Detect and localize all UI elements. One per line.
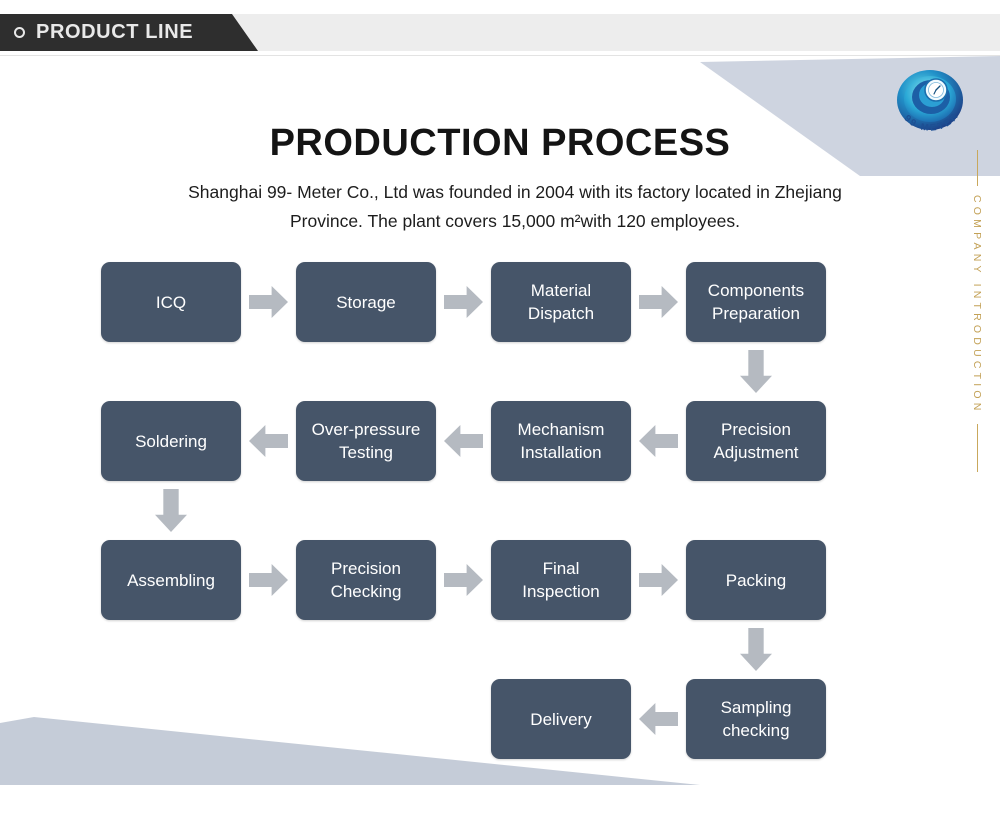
arrow-final-inspection-to-packing: [639, 564, 678, 596]
side-label-text: COMPANY INTRODUCTION: [971, 195, 983, 415]
arrow-precision-adjustment-to-mechanism: [639, 425, 678, 457]
process-box-label: Soldering: [135, 430, 207, 453]
arrow-mechanism-to-over-pressure: [444, 425, 483, 457]
ring-bullet-icon: [14, 27, 25, 38]
process-box-material-dispatch[interactable]: MaterialDispatch: [491, 262, 631, 342]
process-box-label: Packing: [726, 569, 786, 592]
process-box-components-preparation[interactable]: ComponentsPreparation: [686, 262, 826, 342]
process-box-mechanism-installation[interactable]: MechanismInstallation: [491, 401, 631, 481]
process-box-precision-checking[interactable]: PrecisionChecking: [296, 540, 436, 620]
arrow-precision-checking-to-final-inspection: [444, 564, 483, 596]
process-box-label: FinalInspection: [522, 557, 600, 603]
header-underline: [0, 55, 1000, 56]
process-box-label: Storage: [336, 291, 396, 314]
arrow-soldering-to-assembling: [155, 489, 187, 532]
process-box-label: Over-pressureTesting: [312, 418, 421, 464]
process-box-packing[interactable]: Packing: [686, 540, 826, 620]
process-box-final-inspection[interactable]: FinalInspection: [491, 540, 631, 620]
process-box-over-pressure-testing[interactable]: Over-pressureTesting: [296, 401, 436, 481]
process-box-label: MechanismInstallation: [518, 418, 605, 464]
side-vertical-label: COMPANY INTRODUCTION: [962, 150, 992, 470]
arrow-storage-to-material-dispatch: [444, 286, 483, 318]
header-tab[interactable]: PRODUCT LINE: [0, 14, 258, 51]
process-box-label: ICQ: [156, 291, 186, 314]
intro-paragraph: Shanghai 99- Meter Co., Ltd was founded …: [150, 178, 880, 236]
process-box-assembling[interactable]: Assembling: [101, 540, 241, 620]
process-box-label: ComponentsPreparation: [708, 279, 804, 325]
process-box-label: Assembling: [127, 569, 215, 592]
process-box-icq[interactable]: ICQ: [101, 262, 241, 342]
arrow-components-to-precision-adjustment: [740, 350, 772, 393]
process-box-label: Samplingchecking: [721, 696, 792, 742]
arrow-sampling-checking-to-delivery: [639, 703, 678, 735]
process-box-label: Delivery: [530, 708, 591, 731]
process-box-label: PrecisionAdjustment: [713, 418, 798, 464]
arrow-icq-to-storage: [249, 286, 288, 318]
process-box-storage[interactable]: Storage: [296, 262, 436, 342]
process-box-label: MaterialDispatch: [528, 279, 594, 325]
process-box-sampling-checking[interactable]: Samplingchecking: [686, 679, 826, 759]
side-rule-bottom: [977, 424, 978, 472]
arrow-over-pressure-to-soldering: [249, 425, 288, 457]
slide-canvas: PRODUCT LINE: [0, 0, 1000, 832]
process-box-precision-adjustment[interactable]: PrecisionAdjustment: [686, 401, 826, 481]
arrow-packing-to-sampling-checking: [740, 628, 772, 671]
arrow-material-dispatch-to-components: [639, 286, 678, 318]
process-box-soldering[interactable]: Soldering: [101, 401, 241, 481]
page-title: PRODUCTION PROCESS: [0, 122, 1000, 165]
header-tab-inner: PRODUCT LINE: [0, 14, 232, 51]
process-box-delivery[interactable]: Delivery: [491, 679, 631, 759]
process-box-label: PrecisionChecking: [331, 557, 402, 603]
arrow-assembling-to-precision-checking: [249, 564, 288, 596]
header-title: PRODUCT LINE: [36, 21, 193, 44]
